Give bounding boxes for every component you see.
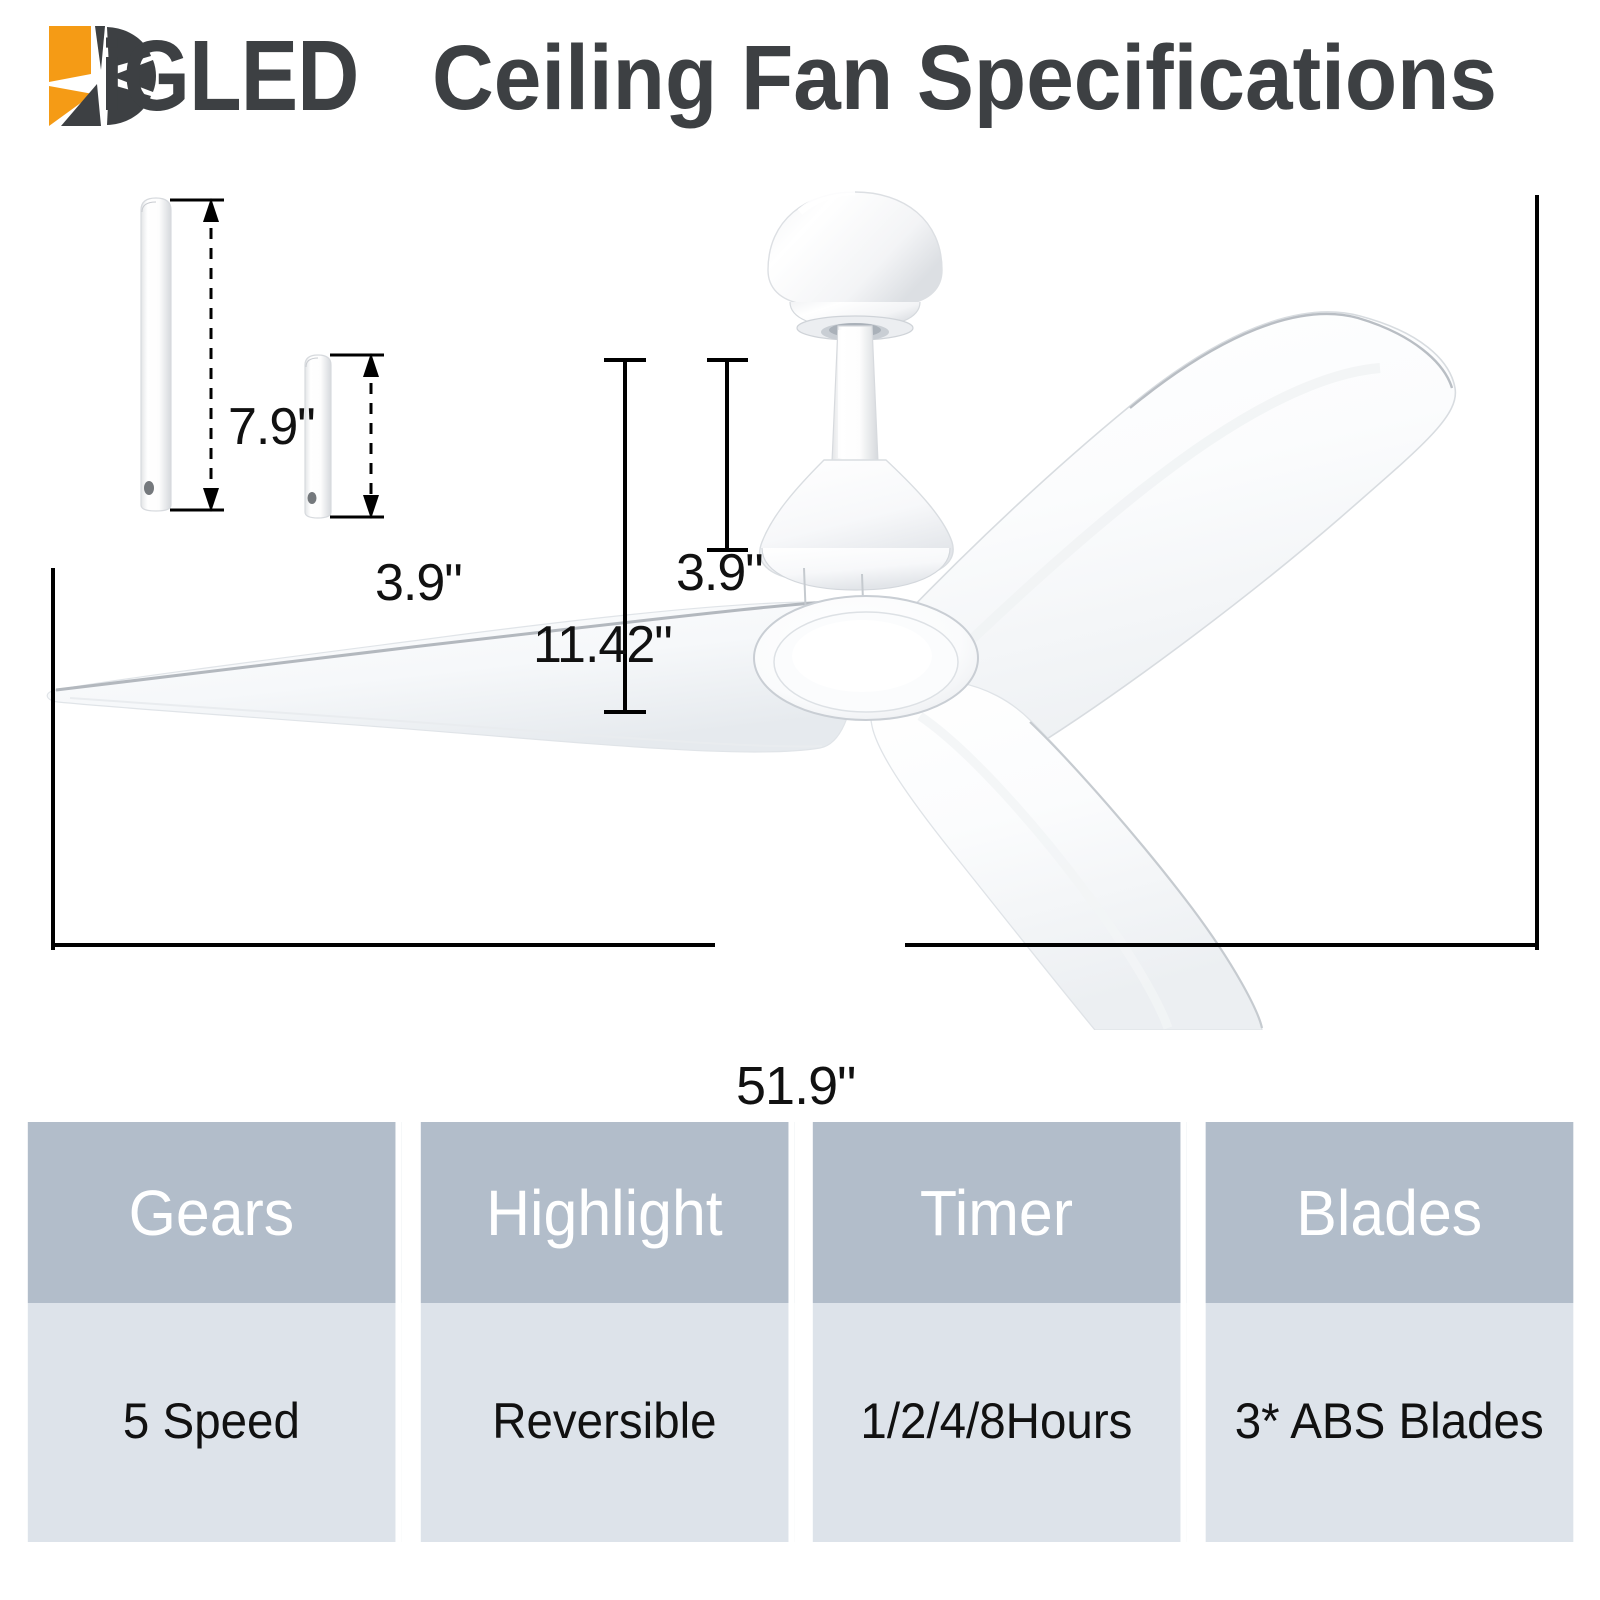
table-header-timer: Timer	[813, 1122, 1186, 1303]
table-header-gears: Gears	[28, 1122, 401, 1303]
dimension-label-downrod-long: 7.9"	[228, 397, 315, 457]
table-cell-timer: 1/2/4/8Hours	[813, 1303, 1186, 1542]
table-cell-blades: 3* ABS Blades	[1205, 1303, 1572, 1542]
dimension-line-7.9	[170, 198, 224, 512]
dimension-line-3.9-drop	[707, 360, 748, 550]
dimension-label-canopy-drop: 3.9"	[676, 543, 763, 603]
table-cell-highlight: Reversible	[420, 1303, 793, 1542]
fan-blade-lower-icon	[870, 680, 1262, 1030]
diagram-canvas	[0, 150, 1600, 1030]
table-cell-gears: 5 Speed	[28, 1303, 401, 1542]
fan-blade-left-icon	[47, 602, 853, 752]
table-header-highlight: Highlight	[420, 1122, 793, 1303]
dimension-label-downrod-short: 3.9"	[375, 553, 462, 613]
led-light-kit-icon	[754, 596, 978, 720]
table-header-blades: Blades	[1205, 1122, 1572, 1303]
page-title: Ceiling Fan Specifications	[432, 28, 1497, 128]
dimension-line-3.9-downrod	[330, 353, 384, 519]
brand-wordmark: iGLED	[100, 24, 358, 128]
page-header: iGLED Ceiling Fan Specifications	[0, 0, 1600, 150]
downrod-long-icon	[141, 198, 171, 511]
dimension-label-total-height: 11.42"	[533, 615, 672, 675]
table-header-row: Gears Highlight Timer Blades	[18, 1122, 1582, 1303]
specifications-table: Gears Highlight Timer Blades 5 Speed Rev…	[18, 1122, 1582, 1542]
fan-dimension-diagram: 7.9" 3.9" 3.9" 11.42" 51.9"	[0, 150, 1600, 1030]
dimension-label-blade-span: 51.9"	[722, 1055, 869, 1117]
table-row: 5 Speed Reversible 1/2/4/8Hours 3* ABS B…	[18, 1303, 1582, 1542]
fan-downrod-icon	[832, 326, 878, 462]
fan-canopy-icon	[768, 192, 942, 341]
